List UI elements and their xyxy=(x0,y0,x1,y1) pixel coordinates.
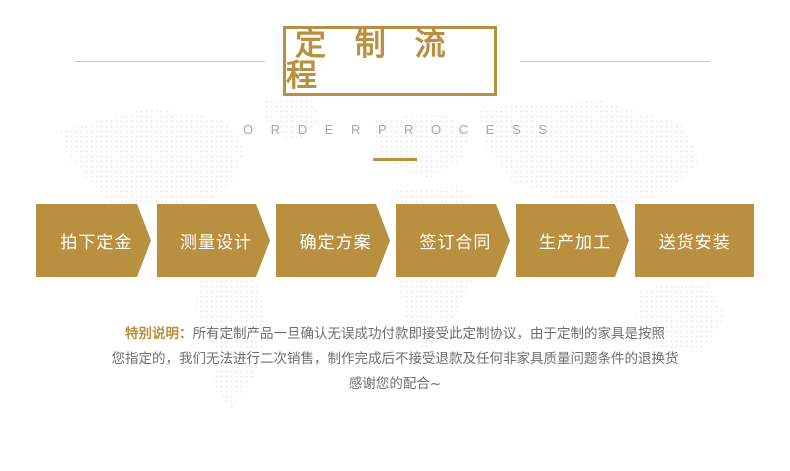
chevron-right-icon xyxy=(376,204,396,277)
step-5-label: 生产加工 xyxy=(538,228,611,253)
step-5[interactable]: 生产加工 xyxy=(515,204,635,277)
title-frame: 定 制 流 程 xyxy=(283,26,497,96)
chevron-right-icon xyxy=(137,204,157,277)
chevron-right-icon xyxy=(615,204,635,277)
special-note-line-1: 所有定制产品一旦确认无误成功付款即接受此定制协议，由于定制的家具是按照 xyxy=(193,326,666,342)
step-1[interactable]: 拍下定金 xyxy=(36,204,156,277)
title-block: 定 制 流 程 xyxy=(0,26,790,106)
special-note: 特别说明：所有定制产品一旦确认无误成功付款即接受此定制协议，由于定制的家具是按照… xyxy=(55,322,735,397)
special-note-line-2: 您指定的，我们无法进行二次销售，制作完成后不接受退款及任何非家具质量问题条件的退… xyxy=(112,351,679,367)
step-3-label: 确定方案 xyxy=(299,228,372,253)
page-subtitle: O R D E R P R O C E S S xyxy=(0,122,790,137)
step-6-label: 送货安装 xyxy=(658,228,731,253)
title-rule-right xyxy=(520,61,710,62)
step-2-label: 测量设计 xyxy=(179,228,252,253)
step-4-label: 签订合同 xyxy=(418,228,491,253)
order-process-banner: 定 制 流 程 O R D E R P R O C E S S 拍下定金 测量设… xyxy=(0,0,790,471)
step-4[interactable]: 签订合同 xyxy=(395,204,515,277)
page-title: 定 制 流 程 xyxy=(286,30,494,92)
step-3[interactable]: 确定方案 xyxy=(275,204,395,277)
title-rule-left xyxy=(75,61,265,62)
step-1-label: 拍下定金 xyxy=(59,228,132,253)
step-6[interactable]: 送货安装 xyxy=(634,204,754,277)
chevron-right-icon xyxy=(256,204,276,277)
chevron-right-icon xyxy=(496,204,516,277)
subtitle-underline xyxy=(373,158,417,161)
process-steps: 拍下定金 测量设计 确定方案 签订合同 生产加工 xyxy=(36,204,754,277)
special-note-line-3: 感谢您的配合~ xyxy=(349,376,441,392)
step-2[interactable]: 测量设计 xyxy=(156,204,276,277)
special-note-label: 特别说明： xyxy=(125,326,193,342)
